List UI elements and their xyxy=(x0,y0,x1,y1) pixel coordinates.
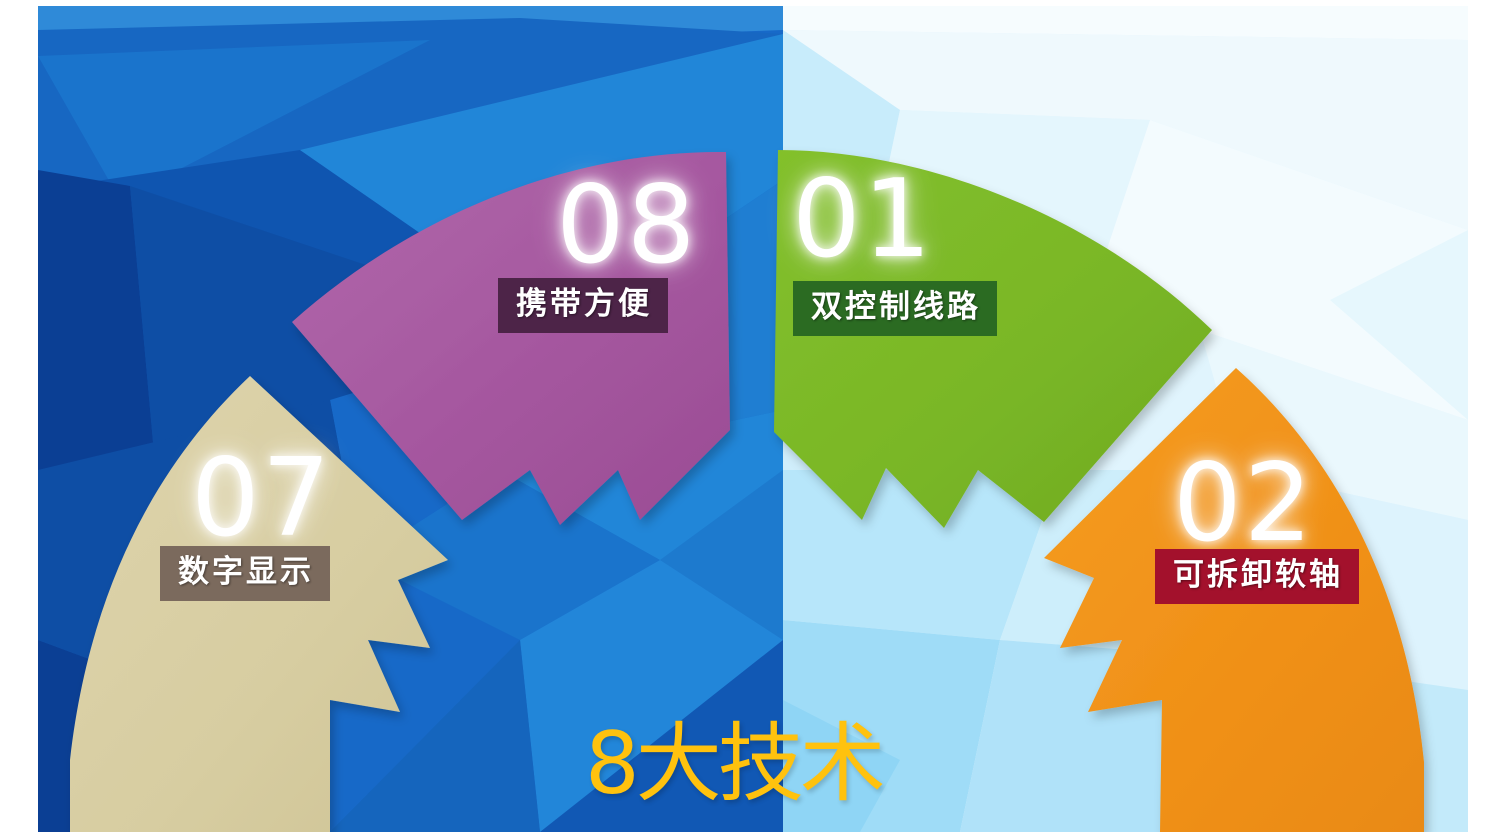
segment-07-label[interactable]: 数字显示 xyxy=(160,546,330,601)
fan-diagram-svg xyxy=(0,0,1500,832)
poster-frame xyxy=(38,6,1468,832)
headline-title: 8大技术 xyxy=(585,721,882,807)
segment-08-label[interactable]: 携带方便 xyxy=(498,278,668,333)
segment-01-label[interactable]: 双控制线路 xyxy=(793,281,997,336)
infographic-canvas: 08 携带方便 01 双控制线路 02 可拆卸软轴 07 数字显示 8大技术 xyxy=(0,0,1500,832)
segment-02-label[interactable]: 可拆卸软轴 xyxy=(1155,549,1359,604)
